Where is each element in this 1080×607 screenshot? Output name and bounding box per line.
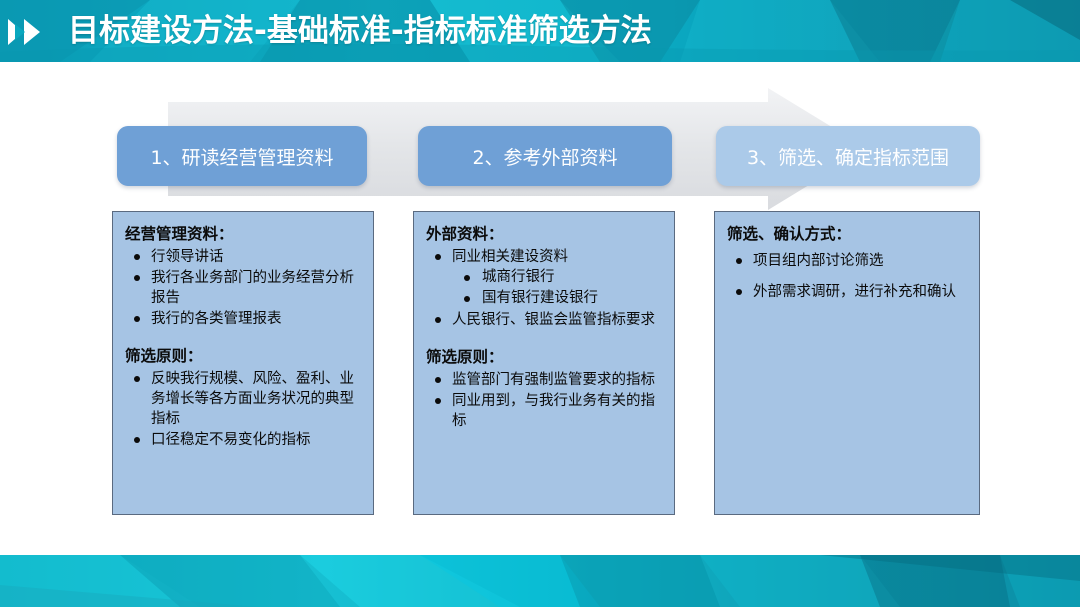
step-box-3-label: 3、筛选、确定指标范围 xyxy=(747,143,949,170)
step-box-row: 1、研读经营管理资料 2、参考外部资料 3、筛选、确定指标范围 xyxy=(0,0,1080,607)
step-box-2-label: 2、参考外部资料 xyxy=(472,143,617,170)
step-box-1-label: 1、研读经营管理资料 xyxy=(150,143,333,170)
step-box-2[interactable]: 2、参考外部资料 xyxy=(418,126,672,186)
double-play-triangle-icon xyxy=(4,16,56,48)
slide-canvas: 目标建设方法-基础标准-指标标准筛选方法 1、研读经营管理资料 2、参考外部资料… xyxy=(0,0,1080,607)
step-box-3[interactable]: 3、筛选、确定指标范围 xyxy=(716,126,980,186)
page-title: 目标建设方法-基础标准-指标标准筛选方法 xyxy=(68,13,652,49)
step-box-1[interactable]: 1、研读经营管理资料 xyxy=(117,126,367,186)
